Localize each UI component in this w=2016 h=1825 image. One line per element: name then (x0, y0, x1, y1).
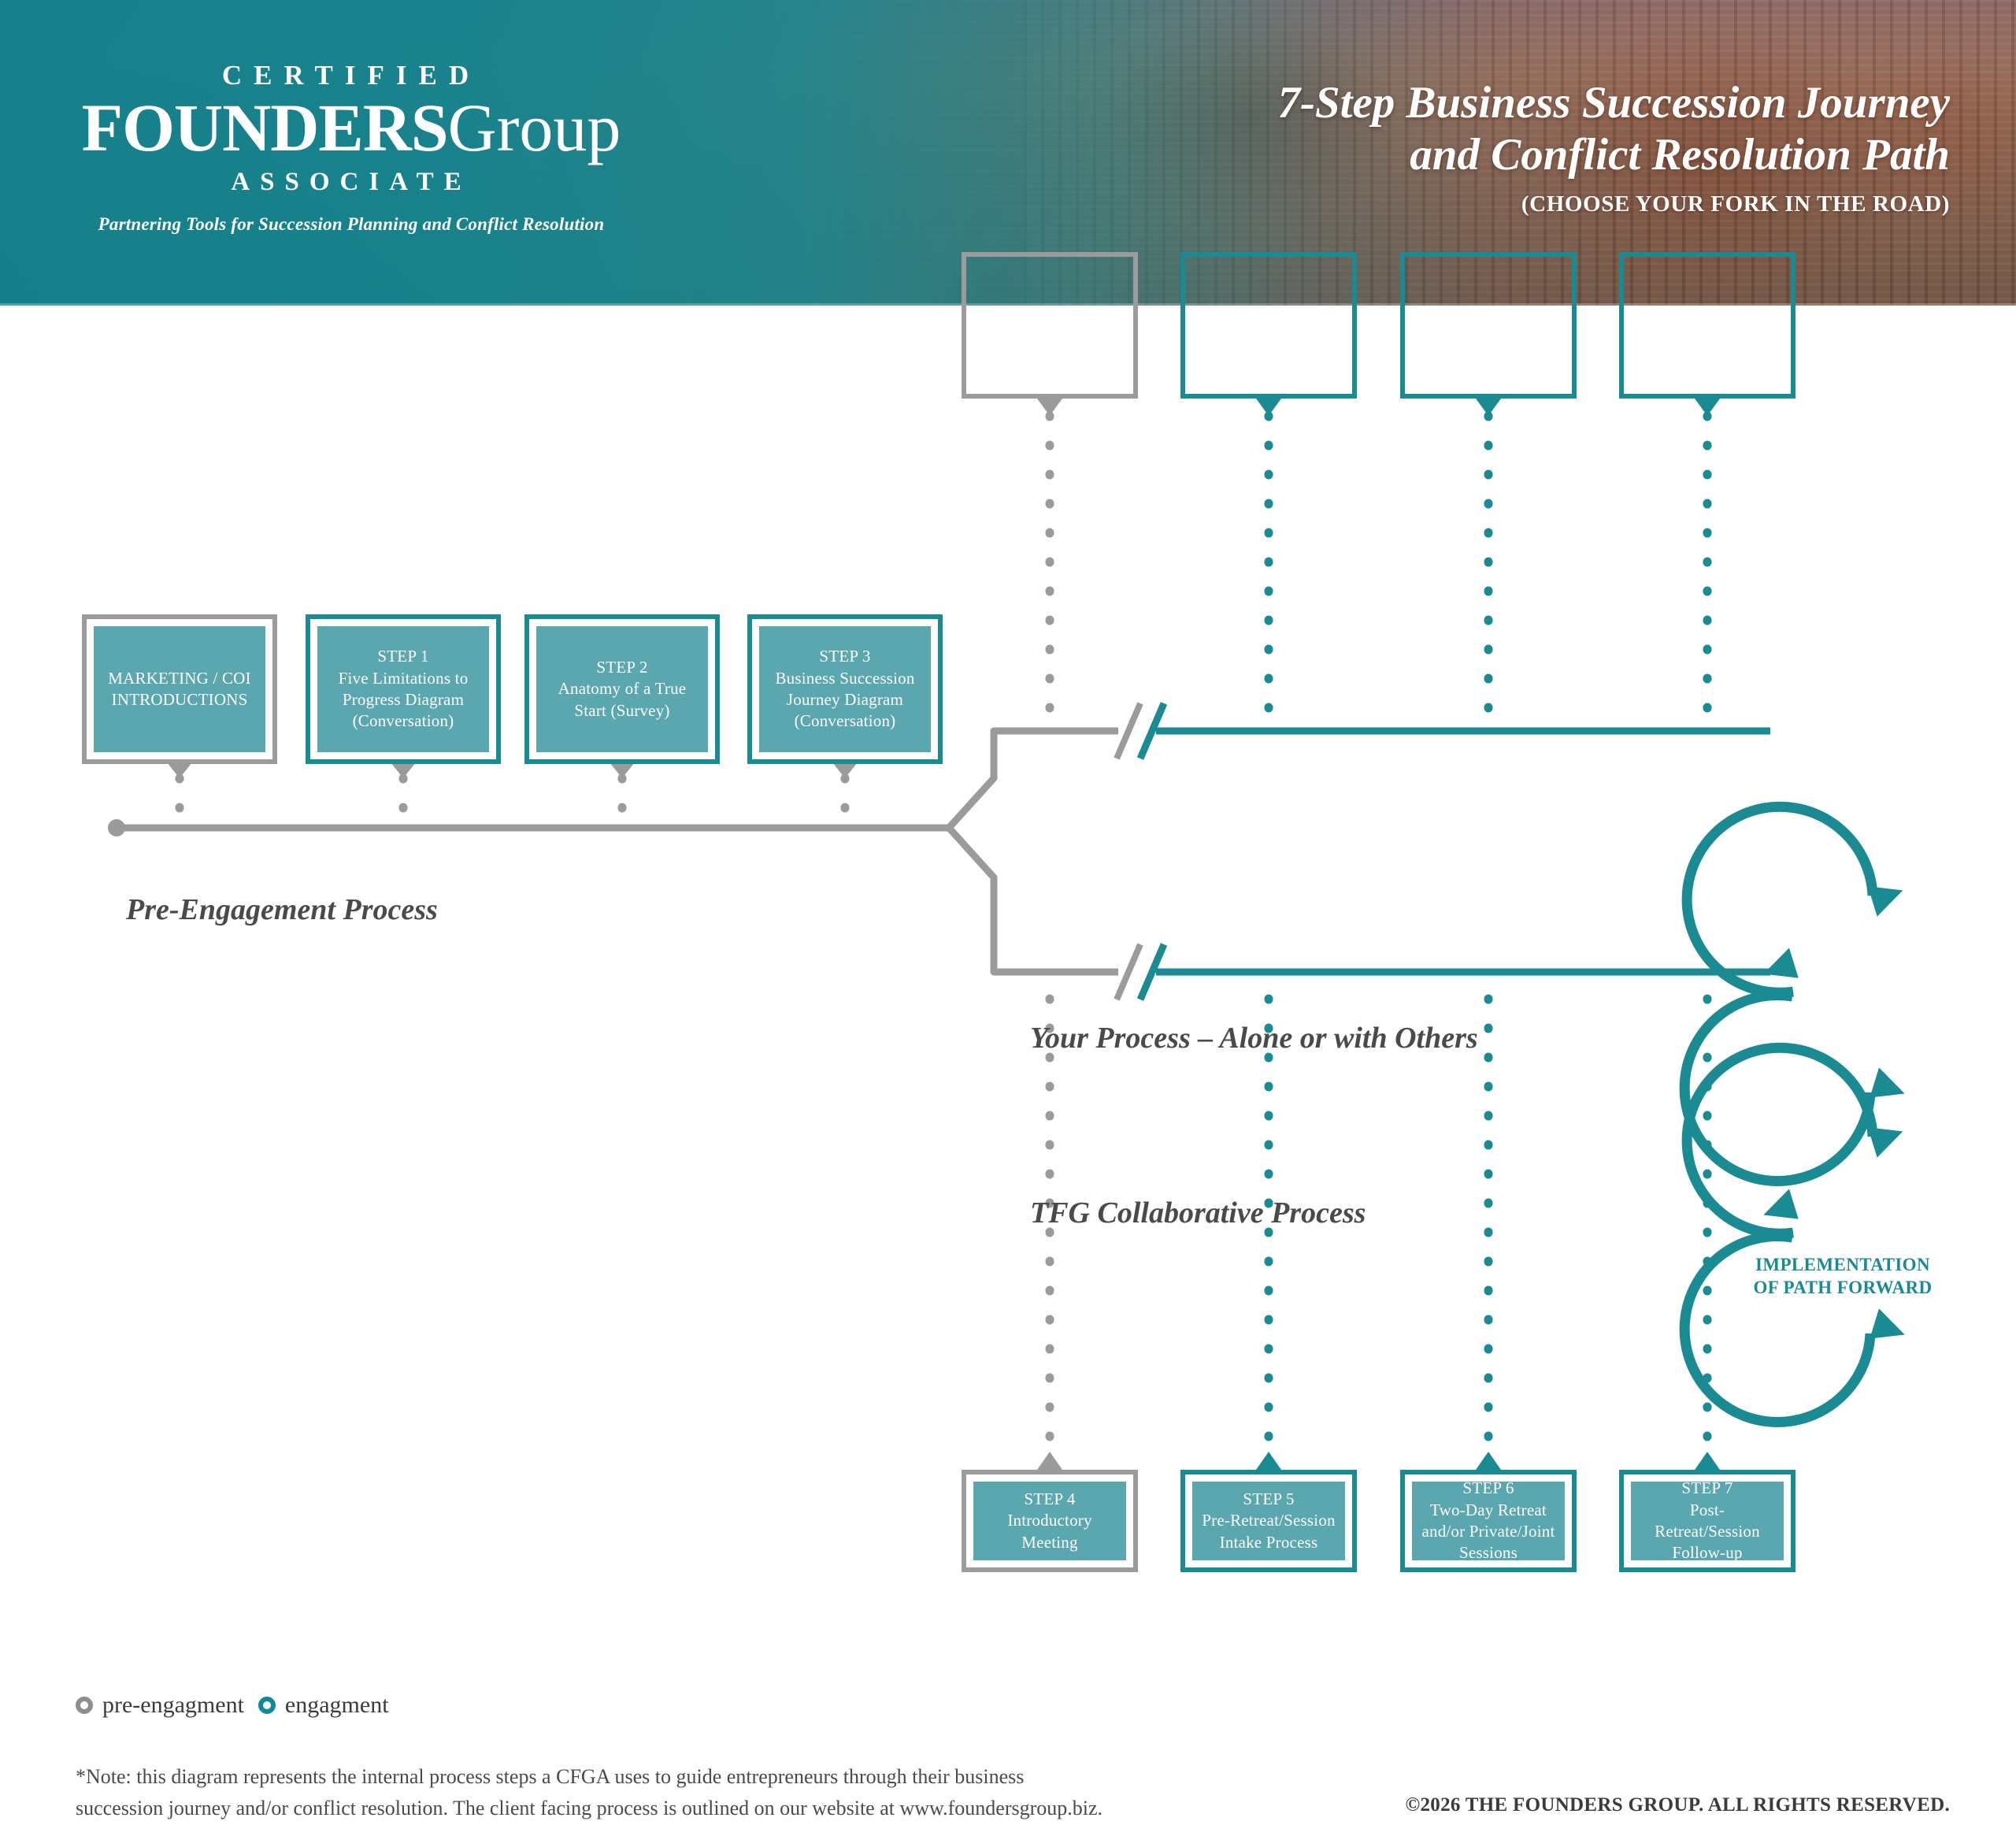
box-line: Intake Process (1202, 1532, 1335, 1553)
title-line-1: 7-Step Business Succession Journey (926, 77, 1950, 129)
box-marketing-coi[interactable]: MARKETING / COI INTRODUCTIONS (82, 614, 277, 764)
box-step-label: STEP 6 (1421, 1478, 1555, 1499)
step4-box-tip (1037, 1452, 1062, 1470)
box-line: Follow-up (1639, 1542, 1776, 1563)
green-box-tip-2 (1256, 399, 1281, 416)
legend: pre-engagment engagment (76, 1692, 389, 1719)
title-line-2: and Conflict Resolution Path (926, 129, 1950, 181)
box-line: Post-Retreat/Session (1639, 1500, 1776, 1543)
box-inner: STEP 1 Five Limitations to Progress Diag… (315, 624, 491, 755)
box-line: Start (Survey) (558, 700, 687, 721)
break-mark-gray-lower (1117, 944, 1140, 1000)
green-box-tip-3 (1476, 399, 1501, 416)
pre-engagement-box-tips (167, 762, 858, 778)
break-mark-gray-upper (1117, 703, 1140, 759)
box-your-process-4[interactable] (1619, 252, 1795, 399)
box-step-5[interactable]: STEP 5 Pre-Retreat/Session Intake Proces… (1180, 1470, 1357, 1572)
logo-wordmark: FOUNDERSGroup (76, 94, 627, 161)
box-line: Five Limitations to (339, 668, 469, 689)
ring-icon (258, 1697, 276, 1714)
box-line: MARKETING / COI (108, 668, 251, 689)
logo-associate-text: ASSOCIATE (76, 168, 627, 197)
box-line: Two-Day Retreat (1421, 1500, 1555, 1521)
legend-item-engagment[interactable]: engagment (258, 1692, 389, 1719)
box-line: and/or Private/Joint (1421, 1521, 1555, 1542)
impl-arrowhead-bottom (1868, 1308, 1910, 1349)
impl-label-line-1: IMPLEMENTATION (1725, 1253, 1961, 1276)
box-inner: STEP 3 Business Succession Journey Diagr… (757, 624, 933, 755)
box-text: STEP 6 Two-Day Retreat and/or Private/Jo… (1421, 1478, 1555, 1563)
title-subtitle: (CHOOSE YOUR FORK IN THE ROAD) (926, 191, 1950, 217)
logo-founders-text: FOUNDERS (82, 90, 448, 165)
step6-box-tip (1476, 1452, 1501, 1470)
logo-group-text: Group (448, 90, 621, 165)
box-inner: STEP 7 Post-Retreat/Session Follow-up (1629, 1479, 1786, 1563)
box-line: (Conversation) (775, 710, 914, 732)
box-your-process-3[interactable] (1400, 252, 1577, 399)
label-your-process: Your Process – Alone or with Others (1030, 1021, 1478, 1055)
box-step-4[interactable]: STEP 4 Introductory Meeting (962, 1470, 1138, 1572)
diagram-canvas: MARKETING / COI INTRODUCTIONS STEP 1 Fiv… (0, 306, 2016, 1568)
box-step-label: STEP 2 (558, 657, 687, 678)
box-step-3[interactable]: STEP 3 Business Succession Journey Diagr… (747, 614, 943, 764)
box-line: Progress Diagram (339, 689, 469, 710)
box-step-label: STEP 3 (775, 646, 914, 667)
green-box-tip-4 (1695, 399, 1720, 416)
legend-label: pre-engagment (102, 1692, 244, 1719)
box-your-process-2[interactable] (1180, 252, 1357, 399)
cycle-arrowhead-left (1758, 948, 1799, 989)
diagram-connectors (0, 306, 2016, 1568)
box-step-label: STEP 1 (339, 646, 469, 667)
box-step-1[interactable]: STEP 1 Five Limitations to Progress Diag… (306, 614, 501, 764)
brand-logo: CERTIFIED FOUNDERSGroup ASSOCIATE Partne… (76, 61, 627, 235)
impl-label-line-2: OF PATH FORWARD (1725, 1276, 1961, 1299)
box-line: Sessions (1421, 1542, 1555, 1563)
box-inner: STEP 5 Pre-Retreat/Session Intake Proces… (1190, 1479, 1347, 1563)
box-line: INTRODUCTIONS (108, 689, 251, 710)
green-box-tip-1 (1037, 399, 1062, 416)
your-process-dotted-drops (1050, 306, 1707, 725)
logo-certified-text: CERTIFIED (76, 61, 627, 89)
box-inner: STEP 4 Introductory Meeting (971, 1479, 1128, 1563)
ring-icon (76, 1697, 93, 1714)
implementation-cycle-label: IMPLEMENTATION OF PATH FORWARD (1725, 1253, 1961, 1300)
box-text: STEP 5 Pre-Retreat/Session Intake Proces… (1202, 1489, 1335, 1553)
cycle-arrowhead-bottom (1868, 1067, 1910, 1108)
box-inner: MARKETING / COI INTRODUCTIONS (91, 624, 268, 755)
impl-arrowhead-left (1758, 1189, 1799, 1230)
box-inner: STEP 6 Two-Day Retreat and/or Private/Jo… (1410, 1479, 1567, 1563)
pre-engagement-dotted-drops (180, 778, 845, 822)
box-line: Business Succession (775, 668, 914, 689)
box-step-label: STEP 5 (1202, 1489, 1335, 1510)
legend-item-pre-engagment[interactable]: pre-engagment (76, 1692, 244, 1719)
box-text: STEP 2 Anatomy of a True Start (Survey) (558, 657, 687, 721)
legend-label: engagment (285, 1692, 389, 1719)
step5-box-tip (1256, 1452, 1281, 1470)
box-text: STEP 1 Five Limitations to Progress Diag… (339, 646, 469, 732)
box-text: STEP 3 Business Succession Journey Diagr… (775, 646, 914, 732)
box-line: (Conversation) (339, 710, 469, 732)
box-step-2[interactable]: STEP 2 Anatomy of a True Start (Survey) (524, 614, 720, 764)
implementation-cycle-icon (1684, 1048, 1873, 1422)
box-step-7[interactable]: STEP 7 Post-Retreat/Session Follow-up (1619, 1470, 1795, 1572)
box-inner: STEP 2 Anatomy of a True Start (Survey) (534, 624, 710, 755)
box-line: Journey Diagram (775, 689, 914, 710)
box-step-label: STEP 4 (1007, 1489, 1091, 1510)
page-title: 7-Step Business Succession Journey and C… (926, 77, 1950, 217)
box-text: STEP 4 Introductory Meeting (1007, 1489, 1091, 1553)
your-process-cycle-icon (1684, 807, 1873, 1181)
copyright-text: ©2026 THE FOUNDERS GROUP. ALL RIGHTS RES… (1406, 1794, 1950, 1816)
box-step-6[interactable]: STEP 6 Two-Day Retreat and/or Private/Jo… (1400, 1470, 1577, 1572)
box-line: Meeting (1007, 1532, 1091, 1553)
footnote: *Note: this diagram represents the inter… (76, 1761, 1225, 1825)
footnote-line-1: *Note: this diagram represents the inter… (76, 1761, 1225, 1793)
box-text: MARKETING / COI INTRODUCTIONS (108, 668, 251, 711)
fork-lower-branch (949, 828, 1118, 972)
box-step-label: STEP 7 (1639, 1478, 1776, 1499)
footnote-line-2: succession journey and/or conflict resol… (76, 1793, 1225, 1824)
logo-tagline: Partnering Tools for Succession Planning… (76, 214, 627, 235)
box-line: Pre-Retreat/Session (1202, 1510, 1335, 1531)
fork-upper-branch (949, 731, 1118, 828)
label-tfg-collaborative-process: TFG Collaborative Process (1030, 1196, 1366, 1230)
box-line: Anatomy of a True (558, 678, 687, 699)
box-text: STEP 7 Post-Retreat/Session Follow-up (1639, 1478, 1776, 1563)
step7-box-tip (1695, 1452, 1720, 1470)
box-line: Introductory (1007, 1510, 1091, 1531)
box-your-process-1[interactable] (962, 252, 1138, 399)
label-pre-engagement-process: Pre-Engagement Process (126, 892, 438, 927)
